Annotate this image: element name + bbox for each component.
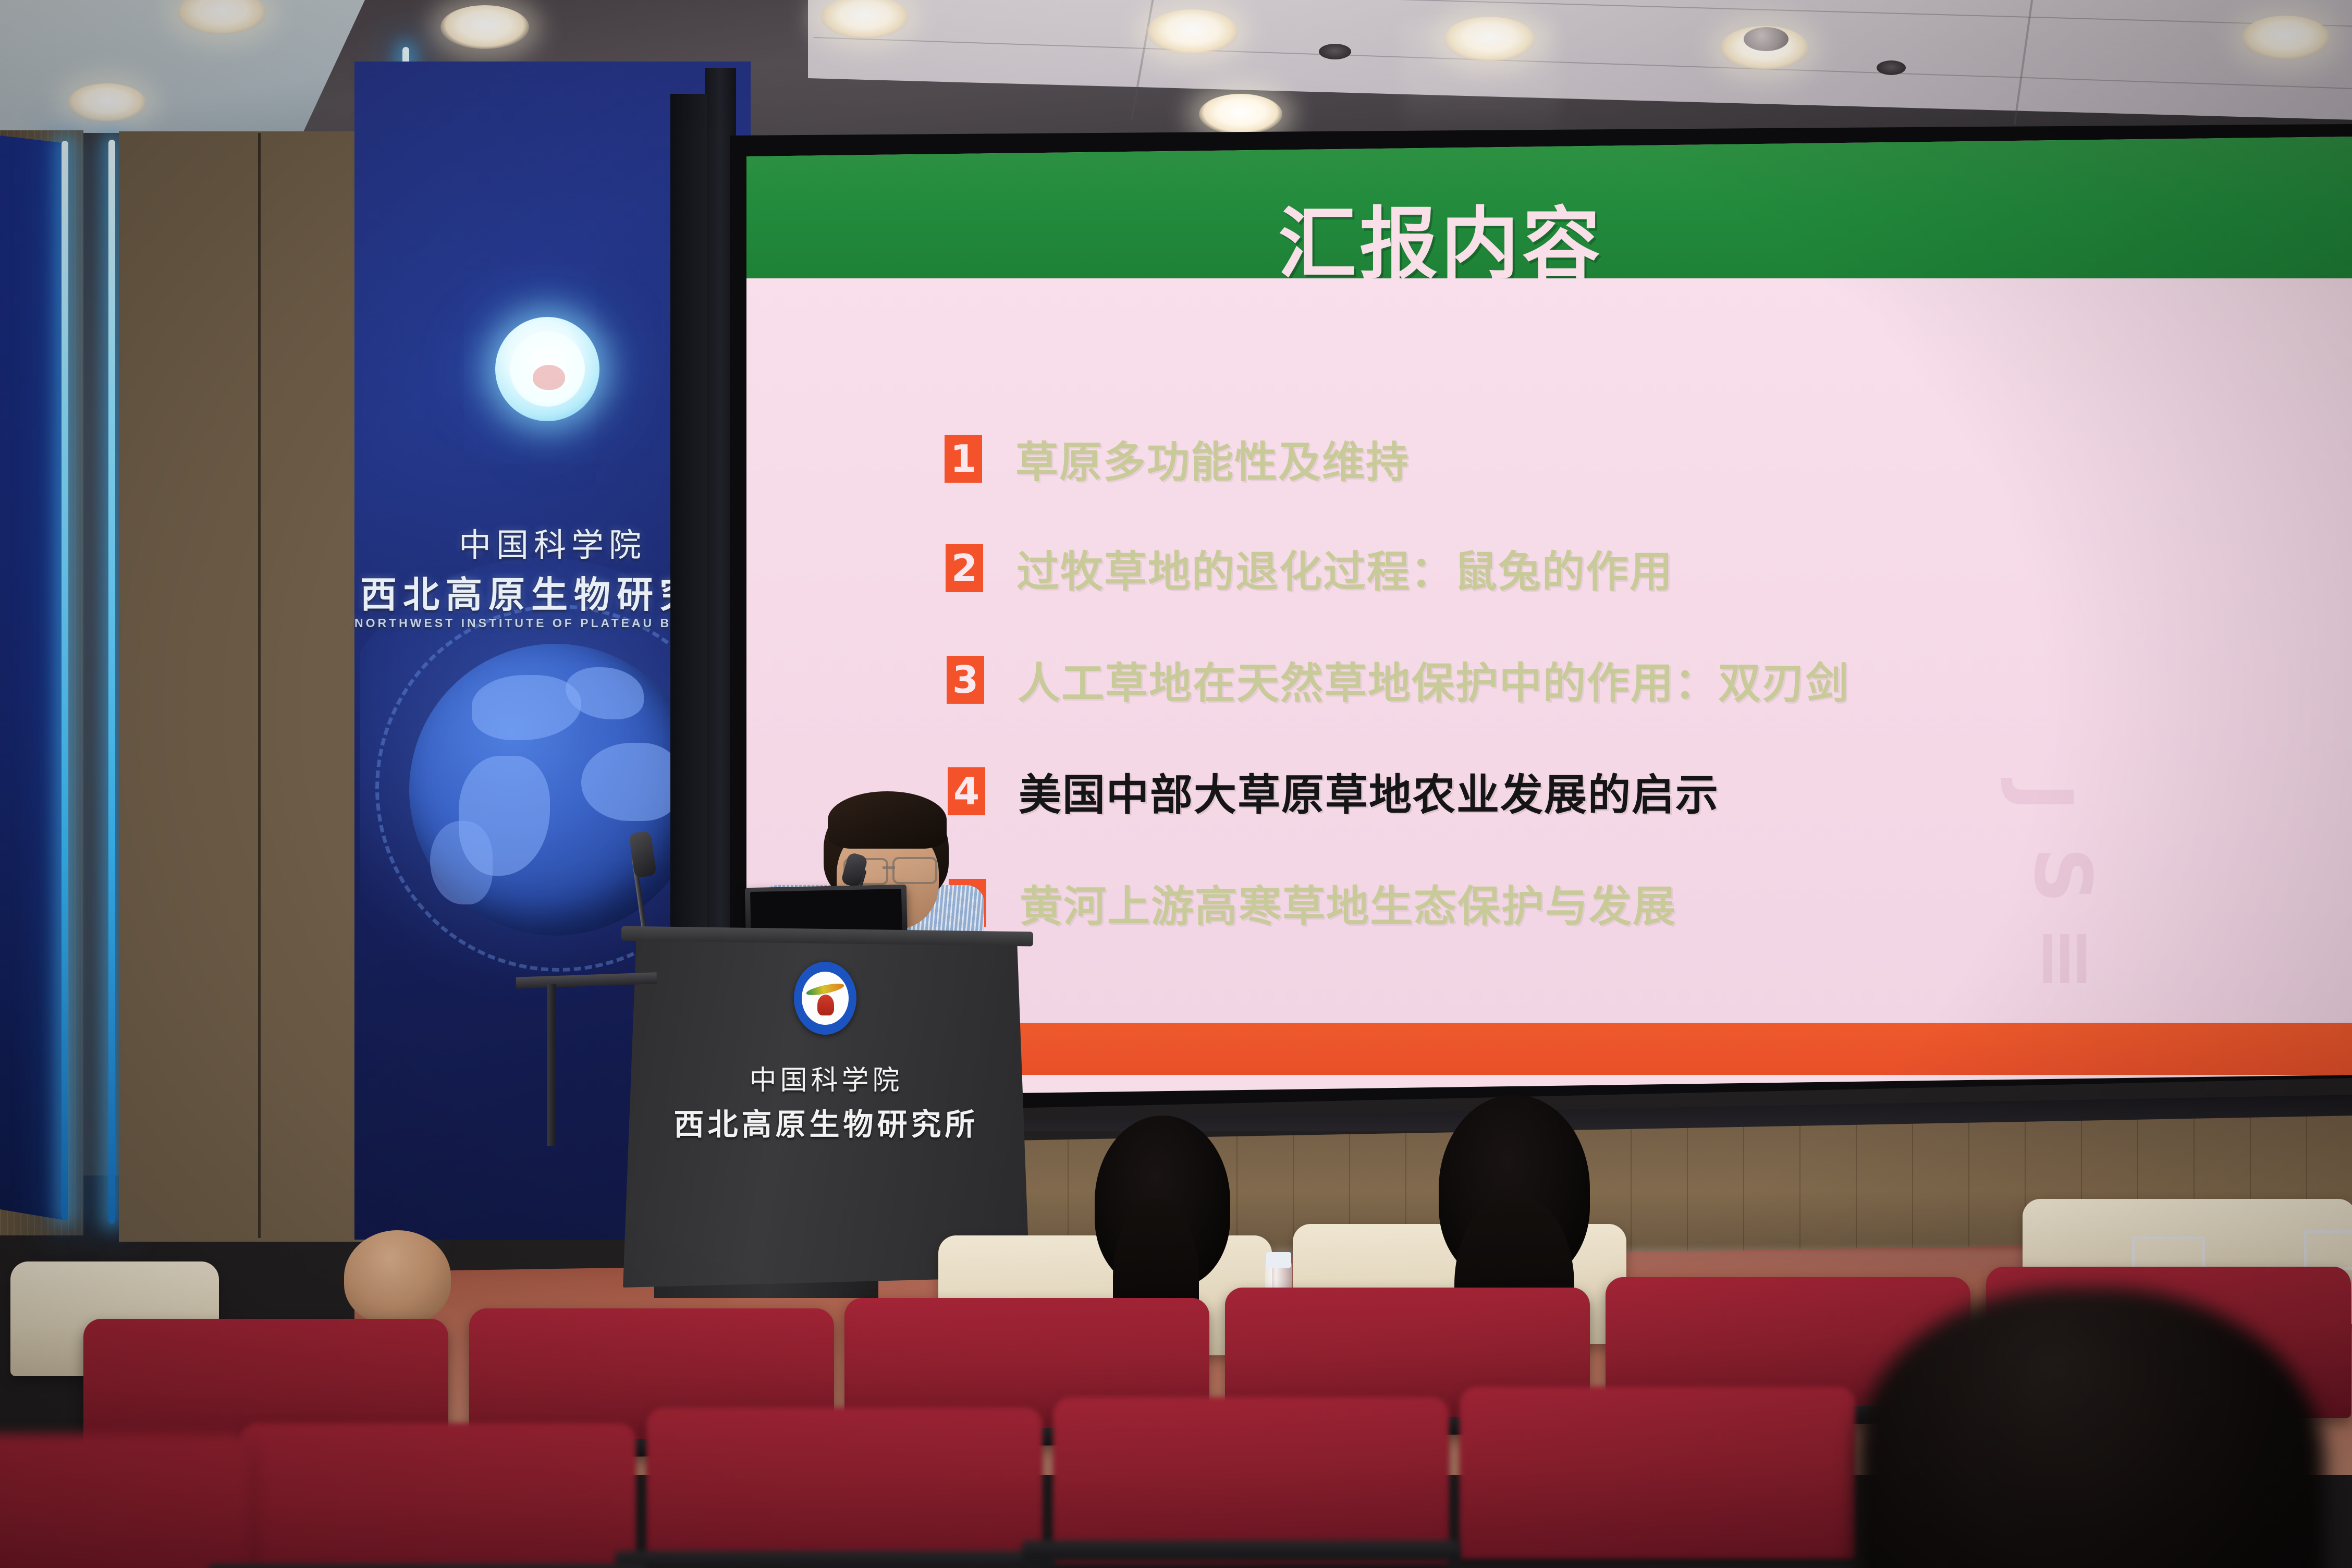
audience-seat[interactable] — [1053, 1397, 1449, 1564]
globe-landmass — [581, 743, 680, 821]
audience-head-left — [344, 1230, 451, 1324]
led-light-strip — [108, 140, 115, 1224]
agenda-item[interactable]: 3 人工草地在天然草地保护中的作用：双刃剑 — [947, 648, 1849, 710]
podium-sign-line-2: 西北高原生物研究所 — [626, 1100, 1027, 1144]
wood-panel-seam — [258, 133, 261, 1238]
agenda-item[interactable]: 2 过牧草地的退化过程：鼠兔的作用 — [946, 537, 1673, 599]
blue-wall-left-return — [0, 136, 63, 1220]
slide-watermark-char: ≡ — [2022, 926, 2112, 991]
ceiling-downlight — [68, 83, 146, 122]
wood-panel — [119, 131, 395, 1242]
ceiling-downlight — [1147, 9, 1238, 54]
agenda-item-label: 美国中部大草原草地农业发展的启示 — [1019, 760, 1719, 822]
globe-landmass — [472, 675, 581, 740]
ceiling-downlight-off — [1877, 60, 1906, 75]
institute-logo-podium-core — [802, 972, 849, 1025]
ceiling-downlight-off — [1319, 44, 1351, 59]
slide-watermark-char: J — [1998, 782, 2089, 812]
smoke-detector — [1744, 27, 1788, 51]
agenda-item-label: 人工草地在天然草地保护中的作用：双刃剑 — [1018, 648, 1849, 710]
led-light-strip — [62, 141, 68, 1220]
seat-armrest — [1022, 1540, 1460, 1561]
agenda-item[interactable]: 1 草原多功能性及维持 — [945, 427, 1410, 489]
institute-logo-mark — [533, 365, 565, 390]
name-card-holder — [2304, 1230, 2352, 1270]
speaker-glasses-bridge — [883, 866, 895, 869]
audience-seat[interactable] — [240, 1423, 636, 1568]
speaker-hair-top — [828, 791, 947, 849]
audience-seat[interactable] — [646, 1407, 1043, 1568]
agenda-item-label: 黄河上游高寒草地生态保护与发展 — [1020, 872, 1676, 934]
agenda-item-label: 草原多功能性及维持 — [1015, 427, 1410, 489]
agenda-number-badge: 2 — [946, 544, 983, 592]
seat-armrest — [209, 1564, 646, 1568]
lecture-hall-photo: 中国科学院 西北高原生物研究所 NORTHWEST INSTITUTE OF P… — [0, 0, 2352, 1568]
agenda-item-label: 过牧草地的退化过程：鼠兔的作用 — [1016, 537, 1673, 599]
ceiling-downlight — [2241, 16, 2330, 59]
ceiling-downlight — [440, 5, 529, 49]
logo-flame — [817, 995, 834, 1015]
audience-seat[interactable] — [0, 1434, 250, 1568]
agenda-number-badge: 1 — [945, 435, 982, 483]
globe-landmass — [430, 821, 493, 904]
slide-title: 汇报内容 — [1278, 181, 1603, 294]
slide-watermark-char: S — [2017, 847, 2108, 903]
water-bottle-cap — [1266, 1252, 1291, 1268]
side-table-leg — [547, 984, 556, 1146]
globe-sphere — [409, 644, 701, 936]
light-beam — [1402, 23, 1559, 138]
audience-seat[interactable] — [1460, 1387, 1856, 1559]
speaker-glasses — [892, 857, 937, 884]
podium-sign-line-1: 中国科学院 — [633, 1058, 1019, 1097]
seat-armrest — [615, 1551, 1053, 1568]
ceiling-downlight — [1199, 94, 1282, 134]
agenda-number-badge: 3 — [947, 656, 984, 704]
